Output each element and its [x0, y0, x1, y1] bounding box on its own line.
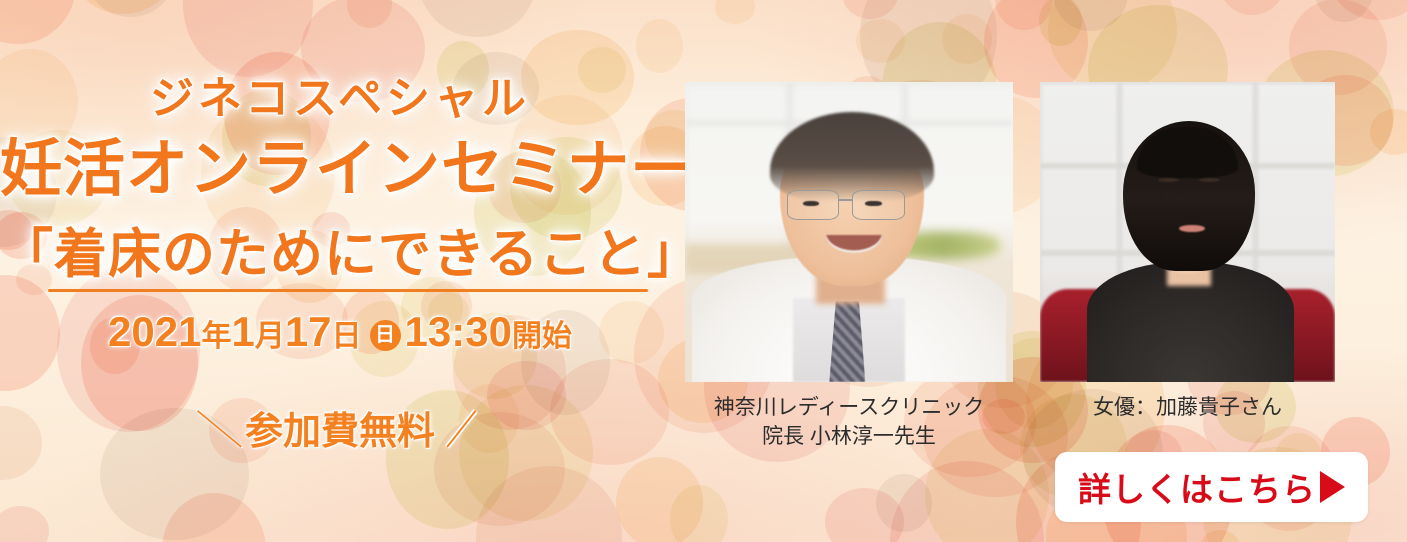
headline-column: ジネコスペシャル 妊活オンラインセミナー 「着床のためにできること」 2021年…: [0, 0, 680, 542]
slash-right-decoration: ／: [435, 398, 487, 456]
actress-eyebrow-left: [1158, 178, 1179, 182]
doctor-caption: 神奈川レディースクリニック 院長 小林淳一先生: [685, 394, 1013, 452]
schedule-year-unit: 年: [201, 320, 231, 353]
doctor-eye-right: [865, 201, 881, 206]
details-button-label: 詳しくはこちら: [1078, 463, 1316, 511]
doctor-photo-canvas: [685, 82, 1013, 382]
doctor-eye-left: [803, 201, 819, 206]
free-admission-line: ＼参加費無料／: [0, 398, 680, 456]
details-button[interactable]: 詳しくはこちら: [1055, 452, 1368, 522]
doctor-eyeglass-bridge: [839, 199, 852, 201]
headline-line-1: ジネコスペシャル: [0, 62, 680, 126]
slash-left-decoration: ＼: [193, 398, 245, 456]
schedule-day-unit: 日: [332, 320, 362, 353]
doctor-caption-line-1: 神奈川レディースクリニック: [685, 394, 1013, 423]
schedule-month-unit: 月: [255, 320, 285, 353]
free-admission-label: 参加費無料: [245, 411, 435, 453]
actress-caption-line-1: 女優：加藤貴子さん: [1040, 394, 1335, 423]
schedule-time: 13:30: [405, 308, 512, 355]
schedule-line: 2021年1月17日日13:30開始: [0, 308, 680, 356]
actress-eyebrow-right: [1199, 178, 1220, 182]
schedule-month: 1: [231, 308, 254, 355]
weekday-badge: 日: [370, 320, 401, 351]
schedule-day: 17: [285, 308, 332, 355]
actress-photo-canvas: [1040, 82, 1335, 382]
doctor-caption-line-2: 院長 小林淳一先生: [685, 423, 1013, 452]
headline-line-2: 妊活オンラインセミナー: [0, 118, 680, 208]
schedule-year: 2021: [108, 308, 201, 355]
seminar-subtitle: 「着床のためにできること」: [0, 212, 680, 288]
promo-banner: ジネコスペシャル 妊活オンラインセミナー 「着床のためにできること」 2021年…: [0, 0, 1407, 542]
play-triangle-icon: [1320, 471, 1345, 503]
horizontal-divider: [48, 289, 648, 292]
actress-eye-left: [1161, 192, 1177, 199]
actress-caption: 女優：加藤貴子さん: [1040, 394, 1335, 423]
actress-photo: [1040, 82, 1335, 382]
schedule-time-suffix: 開始: [512, 320, 572, 353]
doctor-photo: [685, 82, 1013, 382]
